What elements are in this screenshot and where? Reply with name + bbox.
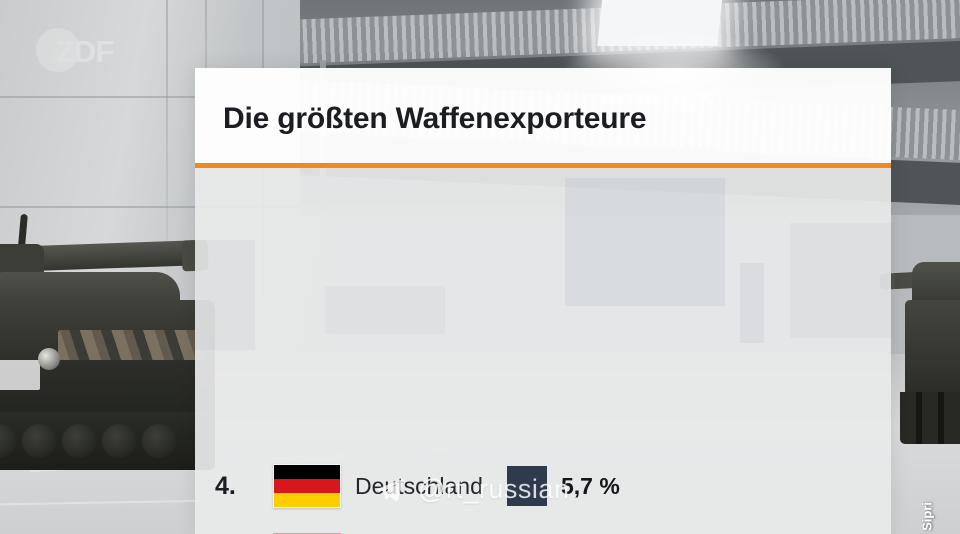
ranking-row: 5. ★ ★ ★ ★ ★ China 5,6 % (195, 525, 891, 534)
flag-germany-icon (273, 464, 341, 508)
value-label: 5,7 % (561, 473, 620, 500)
background-ghost (740, 263, 764, 343)
value-bar (507, 466, 547, 506)
flag-band-black (274, 465, 340, 479)
tank-roadwheel (142, 424, 176, 458)
background-ghost (325, 286, 445, 334)
flag-band-red (274, 479, 340, 493)
infographic-panel: Die größten Waffenexporteure 4. Deutschl… (195, 68, 891, 534)
flag-band-gold (274, 493, 340, 507)
tank-camo-netting (58, 330, 208, 360)
panel-body: 4. Deutschland 5,7 % 5. ★ ★ ★ ★ ★ China … (195, 168, 891, 534)
ranking-row: 4. Deutschland 5,7 % (195, 456, 891, 516)
tank-roadwheel (102, 424, 136, 458)
tank-roadwheel (62, 424, 96, 458)
page-title: Die größten Waffenexporteure (223, 102, 646, 136)
tank-headlight (38, 348, 60, 370)
tank-roadwheel (22, 424, 56, 458)
background-ghost (195, 240, 255, 350)
panel-header: Die größten Waffenexporteure (195, 68, 891, 163)
second-tank-skirt (900, 392, 960, 444)
background-ghost (565, 178, 725, 306)
background-ghost (790, 223, 895, 338)
second-tank-hull (905, 300, 960, 396)
rank-number: 4. (215, 472, 273, 501)
country-label: Deutschland (355, 473, 507, 500)
tank-front-plate (0, 360, 40, 390)
